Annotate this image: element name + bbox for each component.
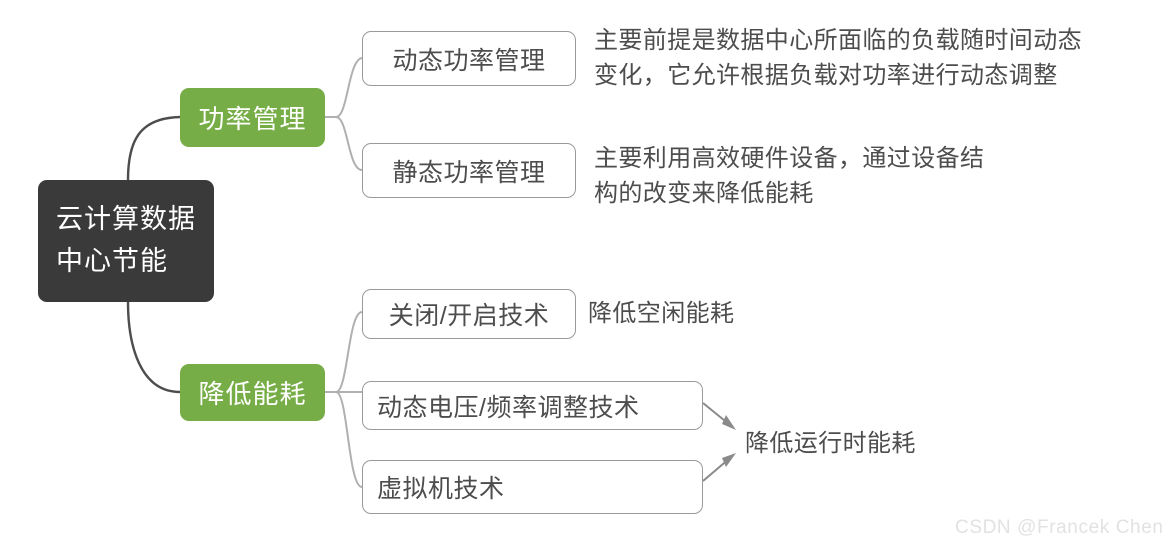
bracket-power-to-dynamic (336, 58, 362, 117)
leaf-node-dvfs-technology[interactable]: 动态电压/频率调整技术 (362, 381, 703, 430)
connector-root-to-power (128, 117, 180, 180)
annotation-reduce-runtime-energy: 降低运行时能耗 (745, 427, 916, 462)
leaf-node-virtual-machine-technology[interactable]: 虚拟机技术 (362, 460, 703, 514)
root-node-label-line1: 云计算数据 (56, 199, 196, 241)
mindmap-canvas: 云计算数据 中心节能 功率管理 降低能耗 动态功率管理 主要前提是数据中心所面临… (0, 0, 1171, 549)
description-static-power-management: 主要利用高效硬件设备，通过设备结 构的改变来降低能耗 (594, 142, 1034, 212)
leaf-node-dynamic-power-management[interactable]: 动态功率管理 (362, 31, 576, 86)
leaf-node-dvfs-technology-label: 动态电压/频率调整技术 (377, 388, 639, 424)
branch-node-reduce-energy[interactable]: 降低能耗 (180, 364, 325, 421)
root-node[interactable]: 云计算数据 中心节能 (38, 180, 214, 302)
leaf-node-on-off-technology-label: 关闭/开启技术 (389, 296, 549, 332)
bracket-power-to-static (336, 117, 362, 170)
connector-root-to-energy (128, 302, 180, 392)
leaf-node-on-off-technology[interactable]: 关闭/开启技术 (362, 289, 576, 339)
arrow-vm-to-runtime (703, 453, 736, 481)
description-on-off-technology: 降低空闲能耗 (588, 297, 734, 332)
branch-node-power-management[interactable]: 功率管理 (180, 88, 325, 147)
bracket-energy-to-onoff (336, 312, 362, 392)
branch-node-power-management-label: 功率管理 (198, 99, 306, 136)
arrow-dvfs-to-runtime (703, 403, 736, 430)
branch-node-reduce-energy-label: 降低能耗 (198, 374, 306, 411)
leaf-node-static-power-management[interactable]: 静态功率管理 (362, 143, 576, 198)
leaf-node-dynamic-power-management-label: 动态功率管理 (392, 41, 545, 77)
watermark: CSDN @Francek Chen (955, 517, 1164, 539)
description-dynamic-power-management: 主要前提是数据中心所面临的负载随时间动态 变化，它允许根据负载对功率进行动态调整 (594, 24, 1134, 94)
root-node-label-line2: 中心节能 (56, 241, 168, 283)
leaf-node-virtual-machine-technology-label: 虚拟机技术 (377, 469, 505, 505)
leaf-node-static-power-management-label: 静态功率管理 (392, 153, 545, 189)
bracket-energy-to-vm (336, 392, 362, 487)
